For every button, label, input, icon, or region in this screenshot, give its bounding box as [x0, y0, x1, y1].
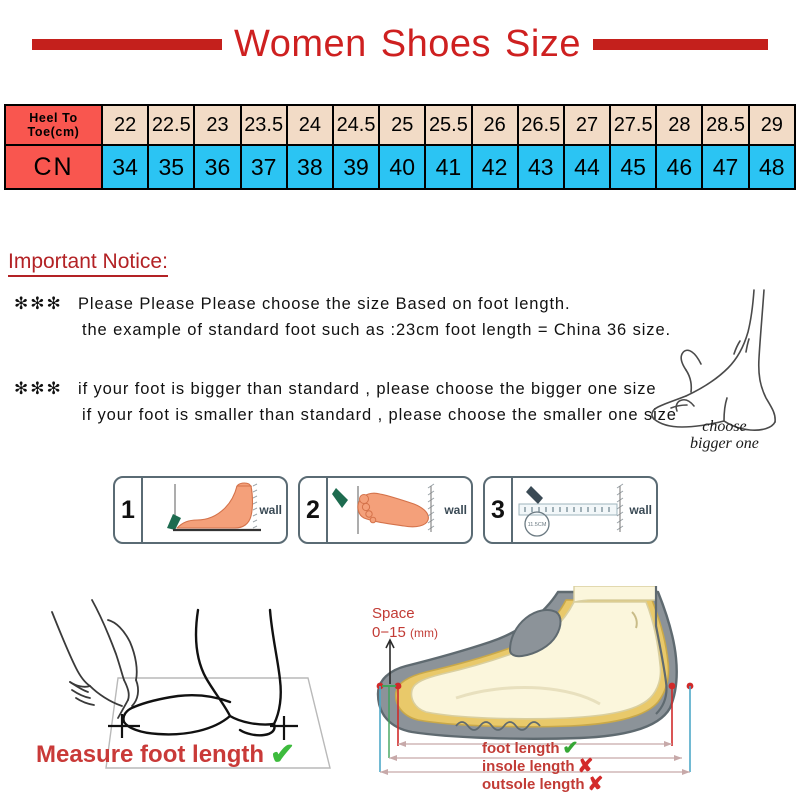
cell-cm: 22.5	[148, 105, 194, 145]
shoe-measurement-legend: foot length ✔ insole length ✘ outsole le…	[482, 740, 603, 794]
step-2-illustration: wall	[328, 478, 471, 542]
cell-cm: 23.5	[241, 105, 287, 145]
row-header-cn: CN	[5, 145, 102, 189]
measurement-steps: 1 wall 2	[113, 476, 658, 544]
cell-cn: 42	[472, 145, 518, 189]
wall-label: wall	[259, 503, 282, 517]
wall-label: wall	[629, 503, 652, 517]
space-unit: (mm)	[410, 626, 438, 640]
cell-cn: 46	[656, 145, 702, 189]
space-label-line-1: Space	[372, 604, 438, 623]
cell-cm: 25	[379, 105, 425, 145]
cell-cn: 39	[333, 145, 379, 189]
cell-cn: 44	[564, 145, 610, 189]
space-range-value: 0−15	[372, 624, 406, 641]
choose-bigger-line-2: bigger one	[690, 435, 759, 452]
legend-label: insole length	[482, 758, 575, 776]
cell-cm: 27	[564, 105, 610, 145]
ruler-badge-text: 11.5CM	[528, 522, 547, 528]
step-card-3: 3 11.5CM	[483, 476, 658, 544]
notice-block-1: ✻✻✻ Please Please Please choose the size…	[14, 291, 671, 343]
cell-cm: 24	[287, 105, 333, 145]
step-1-illustration: wall	[143, 478, 286, 542]
cell-cn: 38	[287, 145, 333, 189]
notice-line: ✻✻✻ Please Please Please choose the size…	[14, 291, 671, 317]
page-title-band: WomenShoesSize	[0, 18, 800, 70]
asterisk-marker-icon: ✻✻✻	[14, 294, 66, 314]
cross-mark-icon: ✘	[588, 776, 604, 794]
legend-label: outsole length	[482, 776, 585, 794]
cell-cn: 45	[610, 145, 656, 189]
cell-cm: 28.5	[702, 105, 748, 145]
legend-label: foot length	[482, 740, 559, 758]
cell-cn: 35	[148, 145, 194, 189]
notice-text: if your foot is smaller than standard , …	[78, 402, 677, 428]
cell-cm: 23	[194, 105, 240, 145]
notice-block-2: ✻✻✻ if your foot is bigger than standard…	[14, 376, 677, 428]
cell-cm: 28	[656, 105, 702, 145]
cell-cm: 26.5	[518, 105, 564, 145]
size-conversion-table: Heel To Toe(cm) 22 22.5 23 23.5 24 24.5 …	[4, 104, 796, 190]
step-card-1: 1 wall	[113, 476, 288, 544]
table-row-heel-to-toe: Heel To Toe(cm) 22 22.5 23 23.5 24 24.5 …	[5, 105, 795, 145]
legend-row-insole-length: insole length ✘	[482, 758, 603, 776]
title-rule-left	[32, 39, 222, 50]
step-number: 3	[485, 478, 513, 542]
cell-cm: 29	[749, 105, 795, 145]
cell-cm: 22	[102, 105, 148, 145]
notice-text: the example of standard foot such as :23…	[78, 317, 671, 343]
cell-cn: 34	[102, 145, 148, 189]
step-card-2: 2 wal	[298, 476, 473, 544]
legend-row-outsole-length: outsole length ✘	[482, 776, 603, 794]
cell-cn: 47	[702, 145, 748, 189]
important-notice-heading: Important Notice:	[8, 250, 168, 277]
choose-bigger-line-1: choose	[690, 418, 759, 435]
space-gap-label: Space 0−15 (mm)	[372, 604, 438, 643]
space-label-line-2: 0−15 (mm)	[372, 623, 438, 643]
measure-foot-length-text: Measure foot length	[36, 741, 264, 769]
asterisk-marker-icon: ✻✻✻	[14, 379, 66, 399]
cell-cn: 40	[379, 145, 425, 189]
notice-text: if your foot is bigger than standard , p…	[78, 376, 656, 402]
row-header-heel-to-toe: Heel To Toe(cm)	[5, 105, 102, 145]
cell-cn: 43	[518, 145, 564, 189]
notice-line: ✻✻✻ if your foot is smaller than standar…	[14, 402, 677, 428]
cell-cm: 24.5	[333, 105, 379, 145]
step-number: 2	[300, 478, 328, 542]
title-rule-right	[593, 39, 768, 50]
check-mark-icon: ✔	[562, 740, 578, 758]
cell-cn: 41	[425, 145, 471, 189]
notice-line: ✻✻✻ the example of standard foot such as…	[14, 317, 671, 343]
table-row-cn: CN 34 35 36 37 38 39 40 41 42 43 44 45 4…	[5, 145, 795, 189]
notice-text: Please Please Please choose the size Bas…	[78, 291, 571, 317]
cell-cm: 26	[472, 105, 518, 145]
cell-cn: 37	[241, 145, 287, 189]
page-title-word-1: Women	[234, 23, 367, 65]
notice-line: ✻✻✻ if your foot is bigger than standard…	[14, 376, 677, 402]
page-title-word-3: Size	[505, 23, 581, 65]
choose-bigger-caption: choose bigger one	[690, 418, 759, 452]
cell-cm: 27.5	[610, 105, 656, 145]
page-title-word-2: Shoes	[381, 23, 491, 65]
step-number: 1	[115, 478, 143, 542]
wall-label: wall	[444, 503, 467, 517]
step-3-illustration: 11.5CM wall	[513, 478, 656, 542]
page-title: WomenShoesSize	[222, 25, 593, 63]
cell-cm: 25.5	[425, 105, 471, 145]
check-mark-icon: ✔	[270, 740, 295, 770]
cell-cn: 36	[194, 145, 240, 189]
size-chart-page: WomenShoesSize Heel To Toe(cm) 22 22.5 2…	[0, 0, 800, 800]
measure-foot-length-label: Measure foot length ✔	[36, 740, 295, 770]
cell-cn: 48	[749, 145, 795, 189]
